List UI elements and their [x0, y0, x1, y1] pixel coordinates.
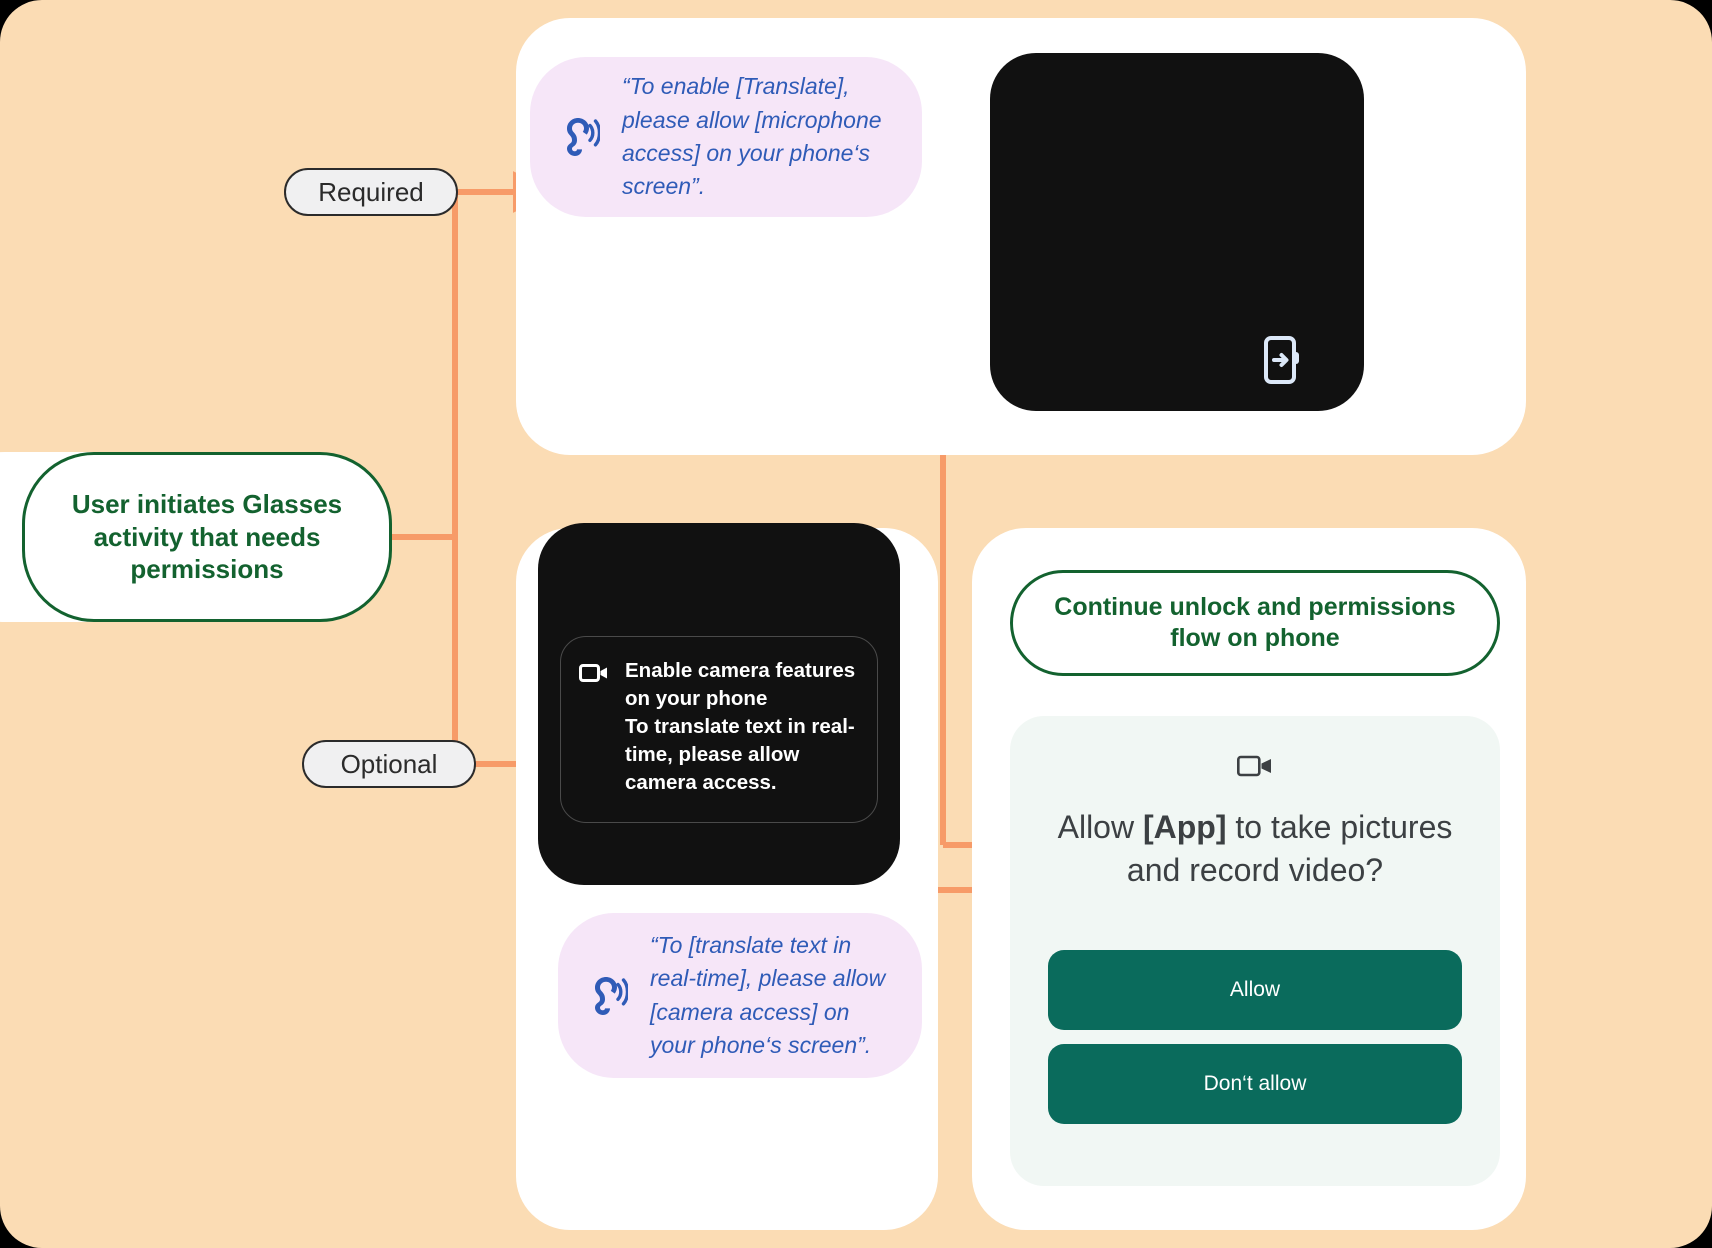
- dont-allow-button-label: Don‘t allow: [1204, 1072, 1307, 1096]
- diagram-canvas: User initiates Glasses activity that nee…: [0, 0, 1712, 1248]
- speech-bubble-camera-text: “To [translate text in real-time], pleas…: [650, 929, 892, 1062]
- permission-question: Allow [App] to take pictures and record …: [1040, 806, 1470, 892]
- branch-required-text: Required: [318, 177, 424, 208]
- speech-bubble-camera: “To [translate text in real-time], pleas…: [558, 913, 922, 1078]
- glasses-toast-title: Enable camera features on your phone: [625, 659, 855, 710]
- allow-button[interactable]: Allow: [1048, 950, 1462, 1030]
- camera-video-icon: [579, 661, 609, 685]
- glasses-display-camera-toast: Enable camera features on your phone To …: [538, 523, 900, 885]
- speech-bubble-microphone-text: “To enable [Translate], please allow [mi…: [622, 70, 892, 203]
- node-continue-on-phone[interactable]: Continue unlock and permissions flow on …: [1010, 570, 1500, 676]
- branch-label-required[interactable]: Required: [284, 168, 458, 216]
- speech-bubble-microphone: “To enable [Translate], please allow [mi…: [530, 57, 922, 217]
- node-continue-label: Continue unlock and permissions flow on …: [1039, 592, 1471, 655]
- ear-hearing-icon: [588, 974, 628, 1018]
- node-start[interactable]: User initiates Glasses activity that nee…: [22, 452, 392, 622]
- branch-optional-text: Optional: [341, 749, 438, 780]
- permission-question-prefix: Allow: [1058, 809, 1143, 845]
- branch-label-optional[interactable]: Optional: [302, 740, 476, 788]
- ear-hearing-icon: [560, 115, 600, 159]
- phone-permission-dialog: Allow [App] to take pictures and record …: [1010, 716, 1500, 1186]
- dont-allow-button[interactable]: Don‘t allow: [1048, 1044, 1462, 1124]
- glasses-toast-body: To translate text in real-time, please a…: [625, 713, 859, 797]
- glasses-toast: Enable camera features on your phone To …: [560, 636, 878, 823]
- camera-video-icon: [1237, 752, 1273, 780]
- node-start-label: User initiates Glasses activity that nee…: [51, 488, 363, 586]
- glasses-display-lock: [990, 53, 1364, 411]
- phone-forward-icon: [1262, 335, 1304, 385]
- allow-button-label: Allow: [1230, 978, 1280, 1002]
- permission-app-name: [App]: [1143, 809, 1227, 845]
